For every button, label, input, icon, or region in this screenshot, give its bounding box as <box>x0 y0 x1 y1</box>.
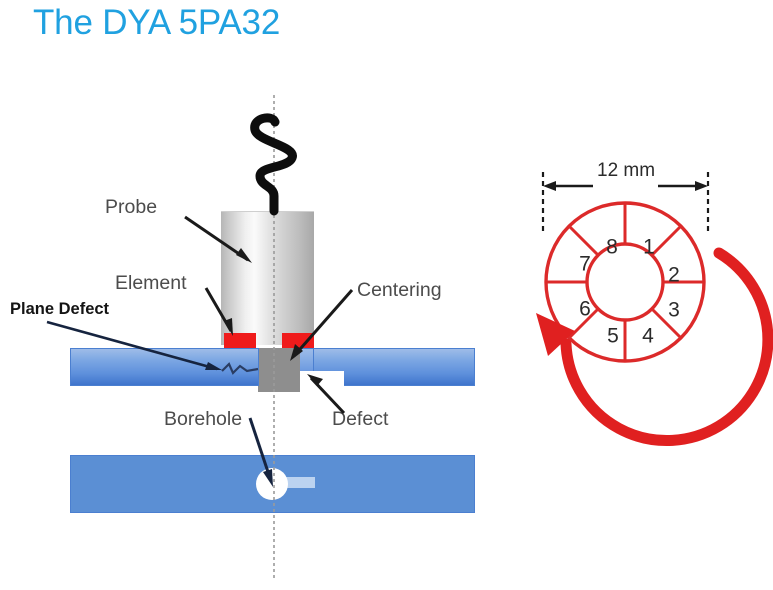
array-segment-5: 5 <box>607 325 619 348</box>
array-segment-1: 1 <box>643 236 655 259</box>
diagram-vector-overlay: 1 2 3 4 5 6 7 8 <box>0 0 773 590</box>
array-segment-2: 2 <box>668 264 680 287</box>
slide-canvas: The DYA 5PA32 Probe Element Plane Defect… <box>0 0 773 590</box>
array-segment-4: 4 <box>642 325 654 348</box>
leader-probe <box>185 217 252 263</box>
leader-element <box>206 288 233 336</box>
dimension-arrow-left <box>543 181 593 191</box>
array-segment-6: 6 <box>579 298 591 321</box>
annular-array-diagram: 1 2 3 4 5 6 7 8 <box>536 172 768 441</box>
leader-defect <box>307 374 344 413</box>
leader-borehole <box>250 418 273 487</box>
array-segment-8: 8 <box>606 236 618 259</box>
plane-defect-crack <box>222 364 258 373</box>
array-segment-7: 7 <box>579 253 591 276</box>
leader-plane-defect <box>47 322 222 370</box>
dimension-arrow-right <box>658 181 708 191</box>
array-segment-3: 3 <box>668 299 680 322</box>
leader-centering <box>290 290 352 361</box>
